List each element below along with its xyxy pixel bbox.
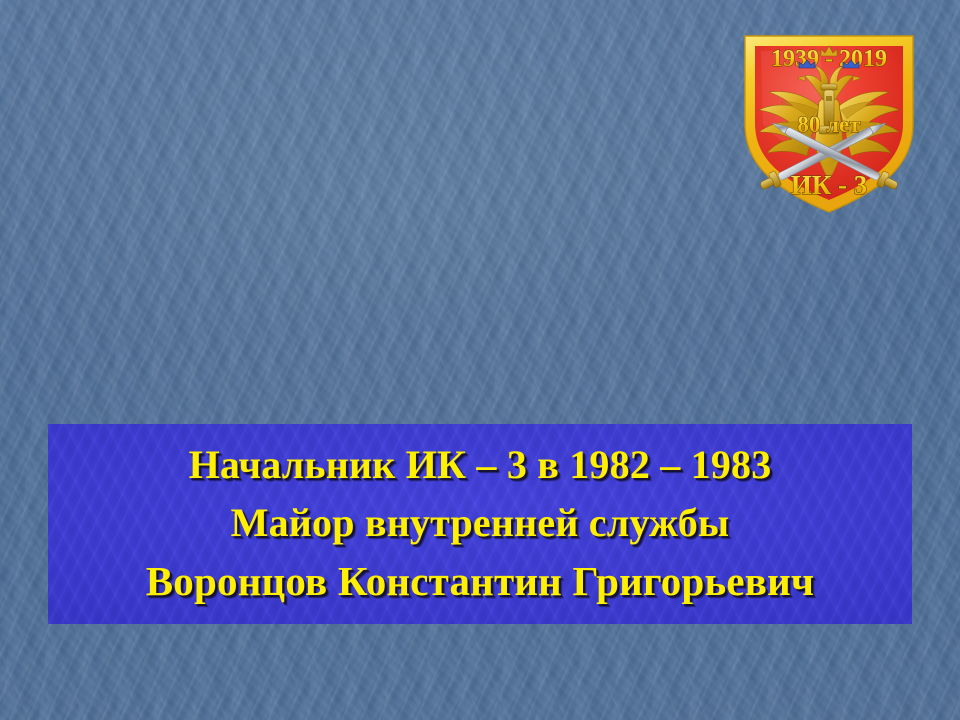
fsin-emblem: 1939 - 2019	[731, 20, 927, 218]
emblem-institution-text: ИК - 3	[791, 170, 868, 200]
caption-line-name: Воронцов Константин Григорьевич	[146, 561, 814, 602]
caption-line-rank: Майор внутренней службы	[231, 503, 730, 543]
caption-text-box: Начальник ИК – 3 в 1982 – 1983 Майор вну…	[48, 424, 912, 624]
emblem-anniversary-text: 80 лет	[797, 112, 861, 137]
presentation-slide: 1939 - 2019	[0, 0, 960, 720]
caption-line-title: Начальник ИК – 3 в 1982 – 1983	[189, 445, 772, 485]
